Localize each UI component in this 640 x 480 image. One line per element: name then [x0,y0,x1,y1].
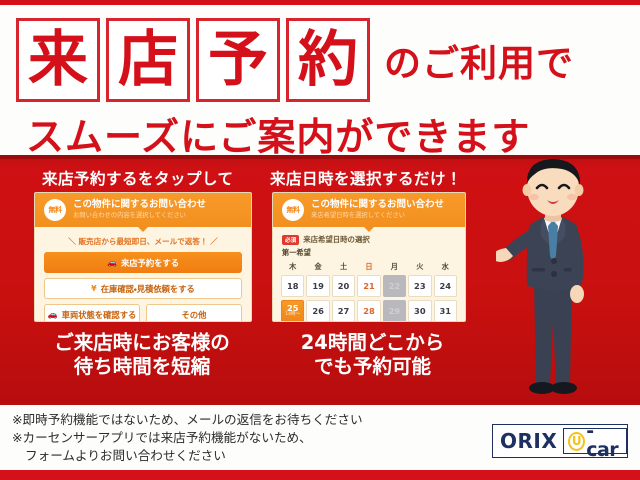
calendar-week-row: 18 19 20 21 22 23 24 [281,275,457,297]
headline-tail-text: のご利用で [384,33,574,87]
car-icon: 🚗 [107,259,117,267]
benefit-caption-right: 24時間どこから でも予約可能 [270,331,475,380]
calendar-day-cell[interactable]: 31 [434,300,457,322]
calendar-day-cell[interactable]: 23 [408,275,431,297]
ucar-lockup: U -car [563,428,627,454]
calendar-day-cell[interactable]: 19 [306,275,329,297]
salesman-illustration [496,152,608,405]
mockup-header-title: この物件に関するお問い合わせ [73,200,206,211]
benefit-right-line1: 24時間どこから [270,331,475,355]
stock-quote-label: 在庫確認・見積依頼をする [101,283,195,295]
calendar-day-cell[interactable]: 30 [408,300,431,322]
preference-label: 第一希望 [282,248,465,258]
car-icon: 🚗 [48,311,58,319]
calendar-day-cell[interactable]: 26 [306,300,329,322]
calendar-day-cell-disabled: 29 [383,300,406,322]
calendar-day-cell-disabled: 22 [383,275,406,297]
headline-kanji-box: 約 [286,18,370,102]
reserve-visit-button[interactable]: 🚗 来店予約をする [44,252,242,273]
header-notch [138,227,148,232]
other-button[interactable]: その他 [146,304,242,322]
headline-kanji-box: 予 [196,18,280,102]
calendar-weekday-row: 木 金 土 日 月 火 水 [281,260,457,275]
disclaimer-line-2: ※カーセンサーアプリでは来店予約機能がないため、 [12,429,462,447]
orix-wordmark: ORIX [493,431,563,451]
weekday-header: 木 [281,260,304,275]
secondary-button-row: 🚗 車両状態を確認する その他 [44,304,242,322]
mockup-header-title: この物件に関するお問い合わせ [311,200,444,211]
step-2-title: 来店日時を選択するだけ！ [270,167,462,189]
benefit-right-line2: でも予約可能 [270,355,475,379]
headline-block: 来 店 予 約 のご利用で スムーズにご案内ができます [0,10,640,150]
weekday-header: 土 [332,260,355,275]
disclaimer-line-1: ※即時予約機能ではないため、メールの返信をお待ちください [12,411,462,429]
disclaimer-line-3: フォームよりお問い合わせください [12,447,462,465]
datetime-field-label-row: 必須 来店希望日時の選択 [282,234,465,245]
app-mockup-inquiry: 無料 この物件に関するお問い合わせ お問い合わせの内容を選択してください ＼ 販… [34,192,252,322]
calendar-day-cell[interactable]: 20 [332,275,355,297]
calendar-week-row: 25 14時〜 26 27 28 29 30 31 [281,300,457,322]
calendar-day-cell[interactable]: 18 [281,275,304,297]
benefit-left-line2: 待ち時間を短縮 [18,355,266,379]
mockup-header-subtitle: お問い合わせの内容を選択してください [73,212,206,219]
benefit-left-line1: ご来店時にお客様の [18,331,266,355]
reply-lead-text: ＼ 販売店から最短即日、メールで返答！ ／ [35,236,251,247]
headline-kanji-box: 店 [106,18,190,102]
datetime-field-label: 来店希望日時の選択 [303,234,370,245]
required-badge: 必須 [282,235,299,245]
other-label: その他 [182,309,207,321]
weekday-header: 月 [383,260,406,275]
headline-line-1: 来 店 予 約 のご利用で [16,18,574,102]
u-circle-icon: U [568,432,585,451]
mockup-header-bar: 無料 この物件に関するお問い合わせ 来店希望日時を選択してください [273,193,465,227]
stock-quote-button[interactable]: ¥ 在庫確認・見積依頼をする [44,278,242,299]
car-wordmark: -car [586,422,620,460]
calendar-day-cell[interactable]: 21 [357,275,380,297]
yen-icon: ¥ [91,285,97,293]
bottom-accent-stripe [0,470,640,480]
headline-kanji-box: 来 [16,18,100,102]
orix-ucar-logo: ORIX U -car [492,424,628,458]
weekday-header: 日 [357,260,380,275]
weekday-header: 金 [306,260,329,275]
vehicle-condition-button[interactable]: 🚗 車両状態を確認する [44,304,140,322]
mockup-header-subtitle: 来店希望日時を選択してください [311,212,444,219]
disclaimer-notes: ※即時予約機能ではないため、メールの返信をお待ちください ※カーセンサーアプリで… [12,411,462,465]
app-mockup-calendar: 無料 この物件に関するお問い合わせ 来店希望日時を選択してください 必須 来店希… [272,192,466,322]
header-notch [364,227,374,232]
reserve-visit-label: 来店予約をする [121,257,179,269]
weekday-header: 水 [434,260,457,275]
selected-day-time: 14時〜 [285,313,300,318]
mockup-header-bar: 無料 この物件に関するお問い合わせ お問い合わせの内容を選択してください [35,193,251,227]
calendar-grid: 木 金 土 日 月 火 水 18 19 20 21 22 23 24 [281,260,457,322]
calendar-day-cell[interactable]: 28 [357,300,380,322]
calendar-day-cell[interactable]: 27 [332,300,355,322]
top-accent-stripe [0,0,640,5]
weekday-header: 火 [408,260,431,275]
calendar-day-cell[interactable]: 24 [434,275,457,297]
vehicle-condition-label: 車両状態を確認する [62,309,137,321]
benefit-caption-left: ご来店時にお客様の 待ち時間を短縮 [18,331,266,380]
free-badge: 無料 [282,199,304,221]
promo-banner: 来 店 予 約 のご利用で スムーズにご案内ができます 来店予約するをタップして… [0,0,640,480]
step-1-title: 来店予約するをタップして [42,167,234,189]
calendar-day-cell-selected[interactable]: 25 14時〜 [281,300,304,322]
free-badge: 無料 [44,199,66,221]
